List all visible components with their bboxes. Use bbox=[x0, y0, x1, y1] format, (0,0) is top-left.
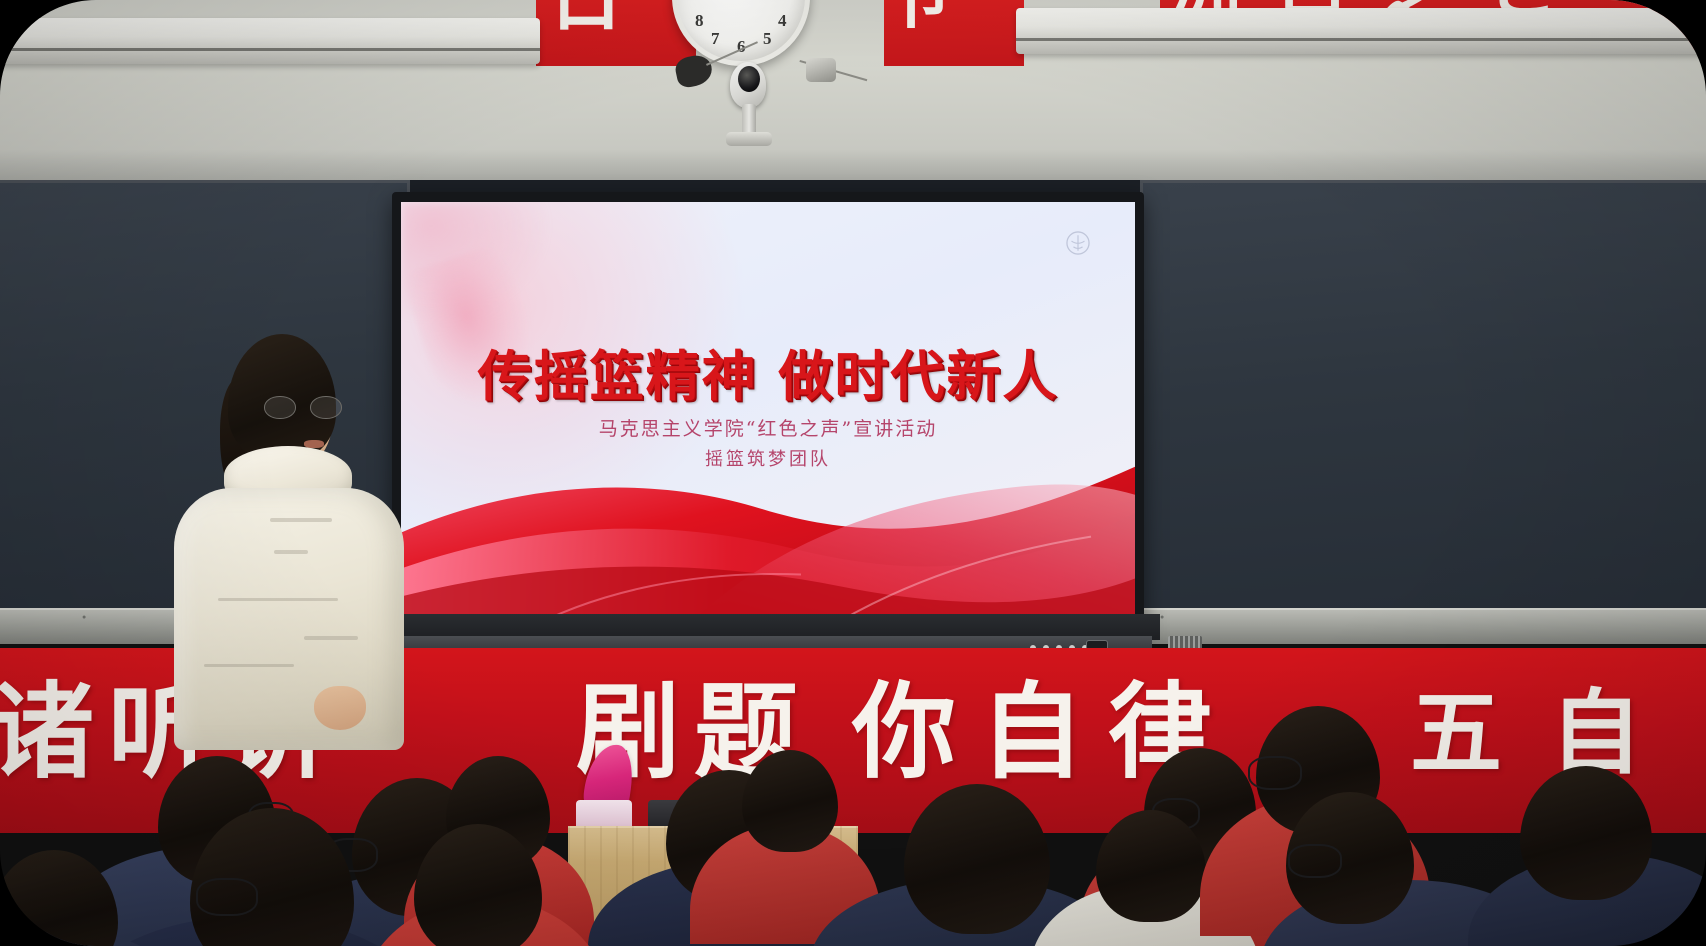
clock-numeral: 8 bbox=[695, 11, 704, 31]
presenter-glasses bbox=[264, 396, 342, 418]
projector-roller-left bbox=[0, 18, 540, 64]
photo-frame: 日 卩 洲 白 乏 ど 8 7 6 5 4 ● ● bbox=[0, 0, 1706, 946]
blackboard-right bbox=[1140, 180, 1706, 620]
clock-numeral: 5 bbox=[763, 29, 772, 49]
student-glasses bbox=[196, 878, 258, 916]
interactive-whiteboard[interactable]: 传摇篮精神 做时代新人 马克思主义学院“红色之声”宣讲活动 摇篮筑梦团队 bbox=[392, 192, 1144, 640]
school-emblem-icon bbox=[1065, 230, 1091, 256]
student-head bbox=[742, 750, 838, 852]
glasses-lens-left bbox=[264, 396, 296, 419]
jacket-seam bbox=[270, 518, 332, 522]
jacket-seam bbox=[274, 550, 308, 554]
presentation-slide: 传摇篮精神 做时代新人 马克思主义学院“红色之声”宣讲活动 摇篮筑梦团队 bbox=[401, 202, 1135, 632]
slide-red-ribbon-graphic bbox=[401, 383, 1135, 632]
student-head bbox=[0, 850, 118, 946]
roller-seam bbox=[0, 48, 540, 51]
student-head bbox=[1520, 766, 1652, 900]
student-glasses bbox=[1288, 844, 1342, 878]
security-camera-mount bbox=[726, 132, 772, 146]
security-camera-lens bbox=[738, 66, 760, 92]
wall-socket bbox=[806, 58, 836, 82]
top-banner-mid: 卩 bbox=[884, 0, 1024, 66]
student-glasses bbox=[1248, 756, 1302, 790]
glasses-lens-right bbox=[310, 396, 342, 419]
clock-numeral: 7 bbox=[711, 29, 720, 49]
audience bbox=[0, 600, 1706, 946]
projector-roller-right bbox=[1016, 8, 1706, 54]
top-banner-left: 日 bbox=[536, 0, 696, 66]
roller-seam bbox=[1016, 38, 1706, 41]
student-head bbox=[904, 784, 1050, 934]
clock-numeral: 4 bbox=[778, 11, 787, 31]
